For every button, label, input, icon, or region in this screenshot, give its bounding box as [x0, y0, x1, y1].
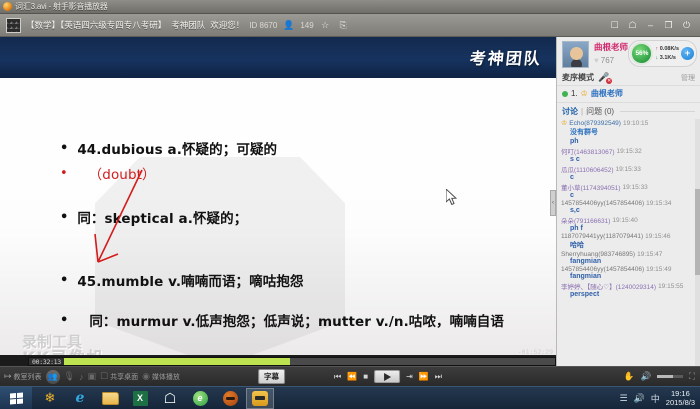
upload-speed: 0.08K/s [660, 46, 679, 52]
slide-bullet-list: • 44.dubious a.怀疑的；可疑的 • （doubt） • 同：ske… [60, 141, 530, 331]
chat-timestamp: 19:15:33 [616, 166, 641, 173]
bullet-text: 同：skeptical a.怀疑的； [77, 210, 247, 228]
seek-bar[interactable]: 00:32:13 -01:52:29 [28, 357, 556, 366]
video-stage[interactable]: 考神团队 录制工具 KK录像机 • 44.dubious a.怀疑的；可疑的 •… [0, 37, 556, 355]
media-play-icon: ◉ [142, 371, 150, 382]
classroom-list-label: 教室列表 [14, 372, 42, 382]
room-header-bar: 【数学】【英语四六级专四专八考研】 考神团队 欢迎您！ ID 8670 👤 14… [0, 14, 700, 37]
volume-icon[interactable]: 🔊 [640, 371, 651, 382]
viewers-icon: 👤 [282, 19, 295, 32]
lecture-slide: 考神团队 录制工具 KK录像机 • 44.dubious a.怀疑的；可疑的 •… [0, 37, 556, 355]
chat-message-list[interactable]: ♔ Echo(879392549) 19:10:15 没有群号 ph 何叮(14… [557, 119, 700, 370]
chat-nickname[interactable]: 1187079441yy(1187079441) [561, 233, 643, 240]
mic-queue-index: 1. [571, 89, 578, 98]
chat-message-body: ph f [561, 225, 696, 232]
chat-nickname[interactable]: 李婷婷、【随心♡】(1240029314) [561, 281, 656, 291]
prev-track-icon[interactable]: ⏮ [334, 372, 341, 382]
bullet-dot-icon: • [60, 273, 68, 290]
recorder-watermark-line2: KK录像机 [22, 351, 104, 355]
chat-message-header: Sherryhuang(983746895) 19:15:47 [561, 251, 696, 258]
bullet-item: • （doubt） [60, 166, 530, 184]
close-button[interactable]: ⏻ [681, 21, 692, 30]
volume-icon[interactable]: 🔊 [634, 393, 645, 404]
chat-timestamp: 19:15:34 [646, 200, 671, 207]
hand-icon[interactable]: ✋ [624, 371, 635, 382]
player-app-icon[interactable] [216, 388, 244, 409]
bullet-dot-icon: • [60, 141, 68, 158]
chat-message: Sherryhuang(983746895) 19:15:47 fangmian [561, 251, 696, 265]
remaining-time: -01:52:29 [518, 348, 553, 356]
bullet-item: • 45.mumble v.喃喃而语；嘀咕抱怨 [60, 273, 530, 291]
favorite-count: 767 [601, 56, 614, 65]
mic-muted-icon[interactable]: 🎤 [598, 72, 609, 83]
classroom-list-button[interactable]: ↦ 教室列表 [4, 371, 42, 382]
window-controls: ☐ ☖ – ❐ ⏻ [609, 21, 694, 30]
chat-message-body: 哈哈 [561, 240, 696, 250]
chat-message-header: 董小草(1174394051) 19:15:33 [561, 182, 696, 192]
chat-scrollbar[interactable] [695, 119, 700, 370]
flower-icon[interactable]: ❄ [36, 388, 64, 409]
tabs-divider [620, 111, 695, 112]
chat-message: ph [561, 138, 696, 145]
download-speed: 3.1K/s [660, 55, 676, 61]
chat-message-body: 没有群号 [561, 127, 696, 137]
speed-values: ↑ 0.08K/s ↓ 3.1K/s [655, 45, 679, 62]
bullet-dot-icon: • [60, 210, 68, 227]
stop-icon[interactable]: ■ [363, 372, 368, 381]
bullet-text: 同：murmur v.低声抱怨；低声说；mutter v./n.咕哝，喃喃自语 [77, 313, 504, 331]
room-title-welcome: 欢迎您！ [210, 19, 244, 31]
tab-separator: | [581, 107, 583, 116]
mouse-cursor-icon [446, 189, 457, 205]
file-explorer-icon[interactable] [96, 388, 124, 409]
chat-timestamp: 19:15:47 [637, 251, 662, 258]
bullet-item: • 同：skeptical a.怀疑的； [60, 210, 530, 228]
fast-forward-icon[interactable]: ⏩ [419, 372, 429, 381]
chat-nickname[interactable]: 1457854406yy(1457854406) [561, 266, 644, 273]
chat-message: ♔ Echo(879392549) 19:10:15 没有群号 [561, 119, 696, 137]
chat-message: 1457854406yy(1457854406) 19:15:34 s,c [561, 200, 696, 214]
chat-scrollbar-thumb[interactable] [695, 189, 700, 274]
clock-time: 19:16 [666, 389, 695, 398]
bullet-item: • 44.dubious a.怀疑的；可疑的 [60, 141, 530, 159]
room-title-main: 考神团队 [171, 19, 205, 31]
media-play-label: 媒体播放 [152, 372, 180, 382]
upload-speed-row: ↑ 0.08K/s [655, 45, 679, 53]
chat-message-header: 1457854406yy(1457854406) 19:15:49 [561, 266, 696, 273]
signal-percent: 56% [630, 42, 653, 65]
chat-nickname[interactable]: 何叮(1463813067) [561, 146, 614, 156]
network-speed-widget: 56% ↑ 0.08K/s ↓ 3.1K/s + [628, 40, 697, 67]
bullet-text: 44.dubious a.怀疑的；可疑的 [77, 141, 277, 159]
next-track-icon[interactable]: ⏭ [435, 372, 442, 382]
mic-queue-name: 曲根老师 [591, 88, 623, 99]
chat-message-header: 1457854406yy(1457854406) 19:15:34 [561, 200, 696, 207]
recorder-watermark: 录制工具 KK录像机 [22, 335, 104, 355]
chat-message: 瓜瓜(1110606452) 19:15:33 c [561, 164, 696, 181]
os-title-bar: 词汇3.avi - 射手影音播放器 [0, 0, 700, 14]
play-triangle [384, 373, 391, 381]
maximize-button[interactable]: ❐ [663, 21, 674, 30]
ime-icon[interactable]: 中 [651, 392, 660, 405]
chat-nickname[interactable]: 瓜瓜(1110606452) [561, 164, 614, 174]
room-logo [6, 18, 21, 33]
chat-message-body: fangmian [561, 273, 696, 280]
volume-slider-fill [657, 375, 673, 378]
chat-nickname[interactable]: Echo(879392549) [569, 120, 621, 127]
minimize-button[interactable]: – [645, 21, 656, 30]
chat-message: 1457854406yy(1457854406) 19:15:49 fangmi… [561, 266, 696, 280]
mic-icon[interactable]: 🎙 [64, 371, 75, 382]
step-forward-icon[interactable]: ⇥ [406, 372, 413, 381]
player-center-controls: 字幕 ⏮ ⏪ ■ ⇥ ⏩ ⏭ [258, 369, 442, 384]
heart-icon: ♥ [594, 56, 599, 65]
chat-message: 朵朵(791166631) 19:15:40 ph f [561, 215, 696, 232]
home-button[interactable]: ☖ [627, 21, 638, 30]
chat-message-header: 瓜瓜(1110606452) 19:15:33 [561, 164, 696, 174]
seek-progress-fill [64, 358, 290, 365]
player-right-tools: ✋ 🔊 ⛶ [624, 371, 700, 382]
star-icon[interactable]: ☆ [319, 19, 332, 32]
caption-button[interactable]: 字幕 [258, 369, 285, 384]
share-screen-button[interactable]: ☐ 共享桌面 [100, 371, 138, 382]
chat-timestamp: 19:15:49 [646, 266, 671, 273]
room-id: ID 8670 [249, 21, 277, 30]
home-icon[interactable]: ☖ [156, 388, 184, 409]
fullscreen-icon[interactable]: ⛶ [689, 371, 695, 382]
chat-message: 何叮(1463813067) 19:15:32 s c [561, 146, 696, 163]
player-left-tools: ↦ 教室列表 👥 🎙 ♪ ▣ ☐ 共享桌面 ◉ 媒体播放 [0, 370, 180, 384]
window-title: 词汇3.avi - 射手影音播放器 [15, 1, 108, 12]
tab-discuss[interactable]: 讨论 [562, 106, 578, 117]
bullet-text: （doubt） [77, 166, 156, 184]
kk-recorder-icon[interactable] [246, 388, 274, 409]
chat-nickname[interactable]: 朵朵(791166631) [561, 215, 610, 225]
manage-link[interactable]: 管理 [681, 73, 695, 83]
application-window: 词汇3.avi - 射手影音播放器 【数学】【英语四六级专四专八考研】 考神团队… [0, 0, 700, 409]
play-icon[interactable] [374, 370, 400, 383]
chat-message-body: ph [561, 138, 696, 145]
room-title-prefix: 【数学】【英语四六级专四专八考研】 [26, 19, 166, 31]
viewer-count: 149 [300, 21, 313, 30]
chat-message-body: perspect [561, 291, 696, 298]
music-icon[interactable]: ♪ [79, 372, 84, 382]
chat-timestamp: 19:10:15 [623, 120, 648, 127]
windows-logo-glyph [10, 392, 23, 404]
bullet-dot-icon: • [60, 313, 68, 330]
windows-start-icon[interactable] [0, 387, 32, 409]
bullet-dot-icon: • [60, 166, 68, 183]
volume-slider[interactable] [657, 375, 683, 378]
chat-message-header: ♔ Echo(879392549) 19:10:15 [561, 119, 696, 127]
chat-message-body: s c [561, 156, 696, 163]
spacer [60, 291, 530, 313]
chat-panel: 曲根老师 ♥ 767 56% ↑ 0.08K/s ↓ 3.1K/s [556, 37, 700, 385]
share-screen-icon: ☐ [100, 371, 108, 382]
panel-toggle-button[interactable]: ☐ [609, 21, 620, 30]
media-play-button[interactable]: ◉ 媒体播放 [142, 371, 180, 382]
share-icon[interactable]: ⎘ [337, 19, 350, 32]
download-arrow-icon: ↓ [655, 55, 658, 61]
internet-explorer-icon[interactable]: e [66, 388, 94, 409]
green-browser-icon[interactable]: e [186, 388, 214, 409]
chat-timestamp: 19:15:46 [645, 233, 670, 240]
classroom-list-icon: ↦ [4, 371, 12, 382]
whiteboard-icon[interactable]: ▣ [87, 371, 96, 382]
taskbar-items: ❄ e X ☖ e [32, 388, 274, 409]
elapsed-time: 00:32:13 [29, 358, 64, 365]
teacher-info-row: 曲根老师 ♥ 767 56% ↑ 0.08K/s ↓ 3.1K/s [557, 37, 700, 70]
taskbar-clock[interactable]: 19:16 2015/8/3 [666, 389, 695, 408]
chat-message-body: s,c [561, 207, 696, 214]
bullet-item: • 同：murmur v.低声抱怨；低声说；mutter v./n.咕哝，喃喃自… [60, 313, 530, 331]
online-status-icon [562, 91, 568, 97]
spacer [60, 229, 530, 251]
chat-timestamp: 19:15:55 [658, 283, 683, 290]
crown-icon: ♔ [581, 89, 588, 98]
system-tray: ☰ 🔊 中 19:16 2015/8/3 [619, 389, 700, 408]
chat-timestamp: 19:15:33 [623, 184, 648, 191]
rewind-icon[interactable]: ⏪ [347, 372, 357, 381]
chat-message: 1187079441yy(1187079441) 19:15:46 哈哈 [561, 233, 696, 250]
chat-message-header: 1187079441yy(1187079441) 19:15:46 [561, 233, 696, 240]
avatar[interactable] [562, 41, 589, 68]
player-control-bar: ↦ 教室列表 👥 🎙 ♪ ▣ ☐ 共享桌面 ◉ 媒体播放 字幕 ⏮ ⏪ ■ [0, 366, 700, 386]
chat-timestamp: 19:15:32 [616, 148, 641, 155]
network-icon[interactable]: ☰ [619, 393, 627, 404]
people-icon[interactable]: 👥 [46, 370, 60, 384]
clock-date: 2015/8/3 [666, 398, 695, 407]
chat-message-body: c [561, 192, 696, 199]
upload-arrow-icon: ↑ [655, 46, 658, 52]
chat-tabs: 讨论 | 问题 (0) [557, 103, 700, 119]
app-icon [3, 2, 12, 11]
mic-mode-label: 麦序模式 [562, 72, 594, 83]
chat-nickname[interactable]: 1457854406yy(1457854406) [561, 200, 644, 207]
chat-message-header: 李婷婷、【随心♡】(1240029314) 19:15:55 [561, 281, 696, 291]
bullet-text: 45.mumble v.喃喃而语；嘀咕抱怨 [77, 273, 303, 291]
chat-message-header: 何叮(1463813067) 19:15:32 [561, 146, 696, 156]
mic-queue-item[interactable]: 1. ♔ 曲根老师 [557, 86, 700, 103]
excel-icon[interactable]: X [126, 388, 154, 409]
tab-question[interactable]: 问题 (0) [586, 106, 614, 117]
transport-controls: ⏮ ⏪ ■ ⇥ ⏩ ⏭ [334, 370, 442, 383]
share-screen-label: 共享桌面 [110, 372, 138, 382]
chat-message: 李婷婷、【随心♡】(1240029314) 19:15:55 perspect [561, 281, 696, 298]
crown-icon: ♔ [561, 119, 567, 127]
chat-nickname[interactable]: 董小草(1174394051) [561, 182, 621, 192]
chat-nickname[interactable]: Sherryhuang(983746895) [561, 251, 635, 258]
spacer [60, 251, 530, 273]
chat-message-body: fangmian [561, 258, 696, 265]
slide-brand: 考神团队 [469, 45, 544, 69]
spacer [60, 184, 530, 210]
windows-taskbar: ❄ e X ☖ e ☰ 🔊 中 19:16 2015/8/3 [0, 386, 700, 409]
chat-message-body: c [561, 174, 696, 181]
seek-track[interactable]: -01:52:29 [64, 358, 555, 365]
chat-timestamp: 19:15:40 [612, 217, 637, 224]
plus-icon[interactable]: + [681, 47, 694, 60]
mic-mode-row: 麦序模式 🎤 管理 [557, 70, 700, 86]
chat-message-header: 朵朵(791166631) 19:15:40 [561, 215, 696, 225]
download-speed-row: ↓ 3.1K/s [655, 54, 679, 62]
chat-message: 董小草(1174394051) 19:15:33 c [561, 182, 696, 199]
spacer [60, 159, 530, 166]
